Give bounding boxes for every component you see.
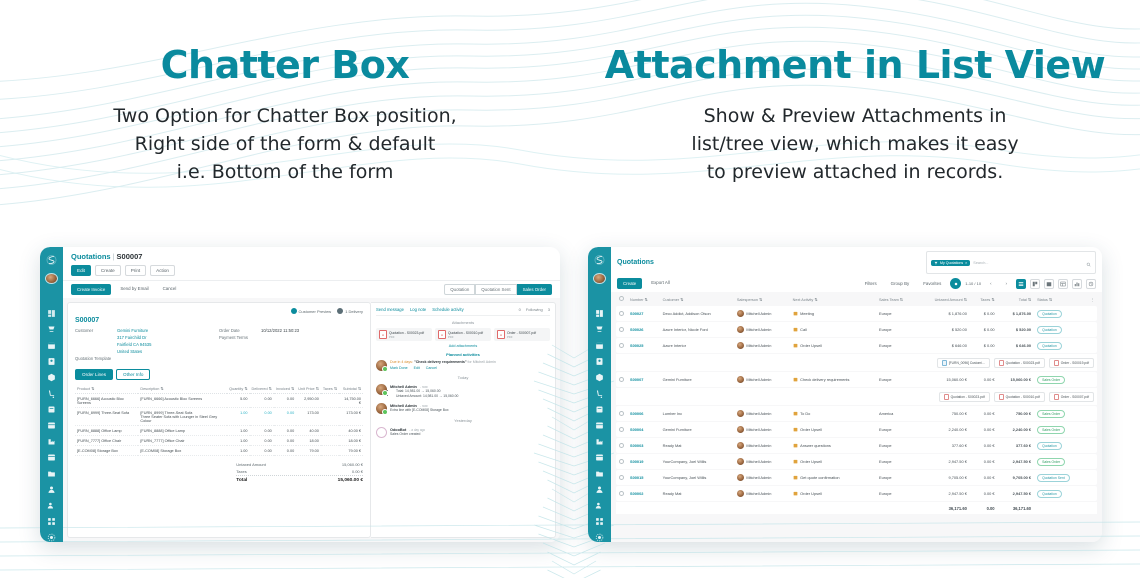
screenshot-form-view[interactable]: Quotations|S00007 Edit Create Print Acti… (40, 247, 560, 542)
cell-untaxed-amount: 377.60 € (917, 438, 970, 453)
attachment-chip[interactable]: Order - S00007.pdf (1049, 392, 1094, 402)
activity-links[interactable]: Mark Done Edit Cancel (390, 366, 550, 370)
order-lines-col-unit-price[interactable]: Unit Price ⇅ (296, 384, 321, 394)
sidebar-icon-manufacturing-right[interactable] (595, 437, 604, 446)
status-quotation-sent[interactable]: Quotation Sent (475, 284, 516, 295)
order-lines-col-delivered[interactable]: Delivered ⇅ (250, 384, 274, 394)
table-row[interactable]: S00007Gemini FurnitureMitchell AdminChec… (616, 372, 1097, 387)
order-line-cell: [FURN_8999] Three-Seat Sofa Three Seater… (138, 408, 227, 426)
activity-cell-inner[interactable]: Answer questions (793, 443, 831, 448)
total-value: 15,060.00 € (342, 462, 363, 467)
cell-spacer (1087, 306, 1097, 321)
salesperson-avatar-name: Mitchell Admin (737, 458, 772, 465)
fields-column-left: Customer Gemini Furniture 317 Fairchild … (75, 328, 219, 363)
row-select-cell[interactable] (616, 338, 627, 353)
cell-next-activity[interactable]: Order Upsell (790, 454, 876, 469)
row-select-cell[interactable] (616, 372, 627, 387)
search-facet[interactable]: My Quotations × (931, 260, 970, 266)
cell-next-activity[interactable]: Answer questions (790, 438, 876, 453)
status-quotation[interactable]: Quotation (444, 284, 475, 295)
sidebar-icon-invoicing-right[interactable] (595, 405, 604, 414)
cell-salesperson: Mitchell Admin (734, 322, 790, 337)
message-thread: TodayMitchell Admin- nowTotal: 14,981.00… (376, 375, 550, 438)
sidebar-icon-contacts[interactable] (47, 357, 56, 366)
breadcrumb[interactable]: Quotations|S00007 (71, 252, 552, 261)
sidebar-icon-manufacturing[interactable] (47, 437, 56, 446)
attachment-count: 0 (519, 307, 521, 312)
order-line-cell: 79.00 € (339, 446, 363, 456)
odoo-sidebar-left[interactable] (40, 247, 63, 542)
avatar (737, 342, 744, 349)
activity-cell-inner[interactable]: Order Upsell (793, 459, 822, 464)
sidebar-icon-website-right[interactable] (595, 453, 604, 462)
odoo-logo-icon (44, 254, 59, 266)
select-all-checkbox[interactable] (619, 296, 624, 301)
activity-cell-inner[interactable]: Check delivery requirements (793, 377, 850, 382)
row-checkbox[interactable] (619, 411, 624, 416)
status-badge: Sales Order (1037, 426, 1065, 434)
cell-number[interactable]: S00004 (627, 422, 660, 437)
thread-day-separator: Yesterday (376, 418, 550, 423)
filters-dropdown[interactable]: Filters (860, 279, 882, 288)
pager-previous-button[interactable]: ‹ (985, 279, 996, 288)
sidebar-icon-recruitment-right[interactable] (595, 501, 604, 510)
column-header-next-activity[interactable]: Next Activity ⇅ (790, 293, 876, 305)
column-header-total[interactable]: Total ⇅ (998, 293, 1035, 305)
table-row[interactable]: S00003Ready MatMitchell AdminAnswer ques… (616, 438, 1097, 453)
activity-cell-inner[interactable]: Order Upsell (793, 491, 822, 496)
attachment-chip[interactable]: [FURN_0096] Customi... (937, 358, 990, 368)
user-avatar[interactable] (45, 273, 58, 284)
cell-spacer (1087, 372, 1097, 387)
following-button[interactable]: Following (526, 307, 543, 312)
order-lines-col-taxes[interactable]: Taxes ⇅ (321, 384, 339, 394)
sidebar-nav[interactable] (47, 309, 56, 542)
order-lines-col-subtotal[interactable]: Subtotal ⇅ (339, 384, 363, 394)
cell-taxes: 0.00 € (970, 454, 998, 469)
order-lines-col-invoiced[interactable]: Invoiced ⇅ (274, 384, 296, 394)
order-lines-col-quantity[interactable]: Quantity ⇅ (227, 384, 249, 394)
activity-subject: "Check delivery requirements" (414, 360, 467, 364)
salesperson-avatar-name: Mitchell Admin (737, 410, 772, 417)
send-by-email-button[interactable]: Send by Email (115, 284, 153, 295)
attachment-list[interactable]: AQuotation - S00023.pdfPDFAQuotation - S… (376, 328, 550, 341)
row-number-link[interactable]: S00025 (630, 343, 643, 348)
order-lines-table: Product ⇅Description ⇅Quantity ⇅Delivere… (75, 384, 363, 456)
sidebar-icon-apps-right[interactable] (595, 517, 604, 526)
cell-number[interactable]: S00027 (627, 306, 660, 321)
cell-next-activity[interactable]: Call (790, 322, 876, 337)
column-header-number[interactable]: Number ⇅ (627, 293, 660, 305)
facet-remove-icon[interactable]: × (965, 261, 967, 265)
field-quotation-template-label: Quotation Template (75, 356, 111, 362)
pdf-icon (1054, 360, 1059, 366)
attachment-chip-label: Quotation - S00023.pdf (1006, 361, 1040, 365)
row-checkbox[interactable] (619, 343, 624, 348)
cell-salesperson: Mitchell Admin (734, 438, 790, 453)
attachment-chips[interactable]: Quotation - S00023.pdfQuotation - S00010… (619, 392, 1094, 402)
sidebar-icon-contacts-right[interactable] (595, 357, 604, 366)
sidebar-icon-calendar[interactable] (47, 341, 56, 350)
records-header-row: Number ⇅Customer ⇅Salesperson ⇅Next Acti… (616, 293, 1097, 305)
chatter-box[interactable]: Send message Log note Schedule activity … (371, 302, 556, 538)
form-action-buttons[interactable]: Edit Create Print Action (71, 265, 552, 276)
order-line-row[interactable]: [E-COM08] Storage Box[E-COM08] Storage B… (75, 446, 363, 456)
order-line-cell: 40.00 (296, 426, 321, 436)
customer-preview-stat-button[interactable]: Customer Preview (291, 308, 332, 314)
column-header-sales-team[interactable]: Sales Team ⇅ (876, 293, 917, 305)
activity-cell-inner[interactable]: Meeting (793, 311, 814, 316)
order-line-cell: 0.00 (250, 394, 274, 408)
row-select-cell[interactable] (616, 422, 627, 437)
cell-next-activity[interactable]: Order Upsell (790, 422, 876, 437)
activity-cell-inner[interactable]: Order Upsell (793, 427, 822, 432)
view-pivot-icon[interactable] (1058, 279, 1068, 289)
cell-number[interactable]: S00015 (627, 470, 660, 485)
cell-taxes: $ 0.00 (970, 306, 998, 321)
cell-next-activity[interactable]: Check delivery requirements (790, 372, 876, 387)
pager-next-button[interactable]: › (1001, 279, 1012, 288)
group-by-dropdown[interactable]: Group By (886, 279, 915, 288)
order-line-cell: [FURN_8888] Office Lamp (75, 426, 138, 436)
cell-untaxed-amount: 2,947.50 € (917, 454, 970, 469)
sidebar-nav-right[interactable] (595, 309, 604, 542)
row-select-cell[interactable] (616, 470, 627, 485)
total-row: Taxes0.00 € (236, 468, 363, 475)
total-value: 0.00 € (352, 469, 363, 474)
sidebar-icon-accounting[interactable] (47, 421, 56, 430)
notebook-tabs[interactable]: Order Lines Other Info (75, 369, 363, 380)
status-badge: Quotation (1037, 310, 1062, 318)
salesperson-avatar-name: Mitchell Admin (737, 310, 772, 317)
cell-status: Sales Order (1034, 406, 1087, 421)
row-checkbox[interactable] (619, 327, 624, 332)
cell-status: Quotation (1034, 322, 1087, 337)
row-select-cell[interactable] (616, 438, 627, 453)
favorites-dropdown[interactable]: Favorites (918, 279, 946, 288)
order-lines-header-row: Product ⇅Description ⇅Quantity ⇅Delivere… (75, 384, 363, 394)
cell-number[interactable]: S00025 (627, 338, 660, 353)
attachment-chip[interactable]: AQuotation - S00023.pdfPDF (376, 328, 432, 341)
column-options-icon[interactable]: ⋮ (1087, 293, 1097, 305)
sidebar-icon-employees-right[interactable] (595, 485, 604, 494)
column-header-customer[interactable]: Customer ⇅ (660, 293, 734, 305)
user-avatar-right[interactable] (593, 273, 606, 284)
list-page-title: Quotations (617, 259, 654, 266)
cell-taxes: 0.00 € (970, 372, 998, 387)
cell-customer: Ready Mat (660, 486, 734, 501)
create-record-button[interactable]: Create (617, 278, 642, 289)
cancel-button[interactable]: Cancel (158, 284, 182, 295)
cell-number[interactable]: S00026 (627, 322, 660, 337)
order-lines-col-product[interactable]: Product ⇅ (75, 384, 138, 394)
row-select-cell[interactable] (616, 454, 627, 469)
row-checkbox[interactable] (619, 443, 624, 448)
create-button[interactable]: Create (95, 265, 121, 276)
schedule-activity-button[interactable]: Schedule activity (432, 307, 463, 312)
sidebar-icon-apps[interactable] (47, 517, 56, 526)
workflow-buttons[interactable]: Create Invoice Send by Email Cancel (71, 284, 181, 295)
status-bar: Create Invoice Send by Email Cancel Quot… (63, 280, 560, 298)
attachment-chip[interactable]: Quotation - S00010.pdf (994, 392, 1045, 402)
sidebar-icon-accounting-right[interactable] (595, 421, 604, 430)
row-checkbox[interactable] (619, 475, 624, 480)
activity-assignee: for Mitchell Admin (468, 360, 496, 364)
status-sales-order[interactable]: Sales Order (517, 284, 552, 295)
cell-status: Quotation Sent (1034, 470, 1087, 485)
add-attachments-button[interactable]: Add attachments (376, 344, 550, 348)
row-number-link[interactable]: S00003 (630, 443, 643, 448)
cell-total: $ 520.00 (998, 322, 1035, 337)
chatter-toolbar[interactable]: Send message Log note Schedule activity … (376, 307, 550, 316)
order-line-cell: [FURN_8999] Three-Seat Sofa (75, 408, 138, 426)
attachment-chip[interactable]: Order - S00019.pdf (1049, 358, 1094, 368)
eye-icon (291, 308, 297, 314)
cell-number[interactable]: S00002 (627, 486, 660, 501)
search-input[interactable]: Search... (973, 261, 988, 265)
view-kanban-icon[interactable] (1030, 279, 1040, 289)
odoo-sidebar-right[interactable] (588, 247, 611, 542)
list-primary-actions[interactable]: Create Export All (617, 278, 675, 289)
sidebar-icon-settings-right[interactable] (595, 533, 604, 542)
order-line-row[interactable]: [FURN_6666] Acoustic Bloc Screens[FURN_6… (75, 394, 363, 408)
row-select-cell[interactable] (616, 306, 627, 321)
table-row[interactable]: S00025Azure InteriorMitchell AdminOrder … (616, 338, 1097, 353)
attachment-chips[interactable]: [FURN_0096] Customi...Quotation - S00023… (619, 358, 1094, 368)
status-pipeline[interactable]: Quotation Quotation Sent Sales Order (444, 284, 552, 295)
cell-spacer (1087, 422, 1097, 437)
export-all-button[interactable]: Export All (646, 278, 675, 289)
order-line-cell: 1.00 (227, 436, 249, 446)
table-row[interactable]: S00026Azure Interior, Nicole FordMitchel… (616, 322, 1097, 337)
summary-blank (627, 502, 660, 514)
table-row[interactable]: S00002Ready MatMitchell AdminOrder Upsel… (616, 486, 1097, 501)
cell-next-activity[interactable]: Order Upsell (790, 486, 876, 501)
order-line-cell: 79.00 (296, 446, 321, 456)
view-list-icon[interactable] (1016, 279, 1026, 289)
sidebar-icon-projects[interactable] (47, 469, 56, 478)
field-payment-terms-label: Payment Terms (219, 335, 261, 341)
order-line-cell (321, 436, 339, 446)
sidebar-icon-sales-right[interactable] (595, 325, 604, 334)
summary-blank (1087, 502, 1097, 514)
attachment-chip[interactable]: AOrder - S00007.pdfPDF (494, 328, 550, 341)
column-header-salesperson[interactable]: Salesperson ⇅ (734, 293, 790, 305)
avatar (737, 458, 744, 465)
cell-number[interactable]: S00007 (627, 372, 660, 387)
row-checkbox[interactable] (619, 459, 624, 464)
cell-customer: Deco Addict, Addison Olson (660, 306, 734, 321)
search-bar[interactable]: My Quotations × Search... (926, 251, 1096, 274)
row-select-cell[interactable] (616, 322, 627, 337)
cell-next-activity[interactable]: To Do (790, 406, 876, 421)
status-badge: Quotation Sent (1037, 474, 1070, 482)
sidebar-icon-recruitment[interactable] (47, 501, 56, 510)
table-row[interactable]: S00006Lumber IncMitchell AdminTo DoAmeri… (616, 406, 1097, 421)
activity-cell-inner[interactable]: Get quote confirmation (793, 475, 840, 480)
cell-sales-team: Europe (876, 438, 917, 453)
activity-cell-inner[interactable]: To Do (793, 411, 811, 416)
row-checkbox[interactable] (619, 491, 624, 496)
row-select-cell[interactable] (616, 486, 627, 501)
list-toolbar[interactable]: Create Export All Filters Group By Favor… (617, 278, 1096, 289)
cell-next-activity[interactable]: Get quote confirmation (790, 470, 876, 485)
settings-gear-icon[interactable] (950, 278, 961, 289)
cell-number[interactable]: S00019 (627, 454, 660, 469)
cancel-activity-link[interactable]: Cancel (426, 366, 437, 370)
row-select-cell[interactable] (616, 406, 627, 421)
row-number-link[interactable]: S00019 (630, 459, 643, 464)
edit-activity-link[interactable]: Edit (414, 366, 420, 370)
sidebar-icon-purchase[interactable] (47, 389, 56, 398)
sidebar-icon-dashboard[interactable] (47, 309, 56, 318)
attachment-chip[interactable]: Quotation - S00023.pdf (939, 392, 990, 402)
chatter-actions[interactable]: Send message Log note Schedule activity (376, 307, 464, 312)
field-customer-label: Customer (75, 328, 117, 334)
cell-salesperson: Mitchell Admin (734, 422, 790, 437)
message-line: Untaxed Amount: 14,981.00 → 15,060.00 (396, 394, 458, 399)
row-number-link[interactable]: S00015 (630, 475, 643, 480)
row-number-link[interactable]: S00007 (630, 377, 643, 382)
cell-next-activity[interactable]: Meeting (790, 306, 876, 321)
cell-status: Quotation (1034, 486, 1087, 501)
row-number-link[interactable]: S00027 (630, 311, 643, 316)
pdf-icon (999, 360, 1004, 366)
delivery-stat-button[interactable]: 1 Delivery (337, 308, 363, 314)
view-activity-icon[interactable] (1086, 279, 1096, 289)
cell-untaxed-amount: $ 646.00 (917, 338, 970, 353)
sidebar-icon-inventory-right[interactable] (595, 373, 604, 382)
tab-other-info[interactable]: Other Info (116, 369, 150, 380)
table-row[interactable]: S00027Deco Addict, Addison OlsonMitchell… (616, 306, 1097, 321)
table-row[interactable]: S00019YourCompany, Joel WillisMitchell A… (616, 454, 1097, 469)
cell-customer: YourCompany, Joel Willis (660, 470, 734, 485)
list-view-controls[interactable]: Filters Group By Favorites 1-10 / 10 ‹ › (860, 278, 1096, 289)
pdf-icon (999, 394, 1004, 400)
cell-next-activity[interactable]: Order Upsell (790, 338, 876, 353)
edit-button[interactable]: Edit (71, 265, 91, 276)
order-line-row[interactable]: [FURN_8999] Three-Seat Sofa[FURN_8999] T… (75, 408, 363, 426)
row-checkbox[interactable] (619, 427, 624, 432)
order-line-cell: 1.00 (227, 446, 249, 456)
cell-untaxed-amount: $ 1,876.00 (917, 306, 970, 321)
cell-number[interactable]: S00003 (627, 438, 660, 453)
order-lines-col-description[interactable]: Description ⇅ (138, 384, 227, 394)
order-line-cell (321, 446, 339, 456)
breadcrumb-separator: | (113, 252, 115, 261)
table-row[interactable]: S00004Gemini FurnitureMitchell AdminOrde… (616, 422, 1097, 437)
sidebar-icon-inventory[interactable] (47, 373, 56, 382)
cell-taxes: $ 0.00 (970, 338, 998, 353)
cell-sales-team: Europe (876, 338, 917, 353)
view-calendar-icon[interactable] (1044, 279, 1054, 289)
summary-blank (790, 502, 876, 514)
sidebar-icon-website[interactable] (47, 453, 56, 462)
cell-total: $ 1,876.00 (998, 306, 1035, 321)
attachment-chip[interactable]: AQuotation - S00010.pdfPDF (435, 328, 491, 341)
cell-number[interactable]: S00006 (627, 406, 660, 421)
order-line-cell: 0.00 (274, 394, 296, 408)
salesperson-avatar-name: Mitchell Admin (737, 442, 772, 449)
row-checkbox[interactable] (619, 377, 624, 382)
sidebar-icon-purchase-right[interactable] (595, 389, 604, 398)
tab-order-lines[interactable]: Order Lines (75, 369, 113, 380)
create-invoice-button[interactable]: Create Invoice (71, 284, 111, 295)
sidebar-icon-projects-right[interactable] (595, 469, 604, 478)
row-number-link[interactable]: S00004 (630, 427, 643, 432)
column-header-taxes[interactable]: Taxes ⇅ (970, 293, 998, 305)
mark-done-link[interactable]: Mark Done (390, 366, 408, 370)
headings-row: Chatter Box Two Option for Chatter Box p… (0, 42, 1140, 186)
order-line-cell: [FURN_7777] Office Chair (138, 436, 227, 446)
message-avatar (376, 427, 387, 438)
print-button[interactable]: Print (125, 265, 146, 276)
attachment-chip[interactable]: Quotation - S00023.pdf (994, 358, 1045, 368)
view-graph-icon[interactable] (1072, 279, 1082, 289)
row-number-link[interactable]: S00002 (630, 491, 643, 496)
thread-day-separator: Today (376, 375, 550, 380)
field-order-date-label: Order Date (219, 328, 261, 334)
attachment-preview-row[interactable]: Quotation - S00023.pdfQuotation - S00010… (616, 388, 1097, 405)
field-customer-value[interactable]: Gemini Furniture (117, 328, 148, 334)
list-records-container[interactable]: Number ⇅Customer ⇅Salesperson ⇅Next Acti… (611, 292, 1102, 542)
sidebar-icon-employees[interactable] (47, 485, 56, 494)
activity-cell-inner[interactable]: Call (793, 327, 807, 332)
stat-buttons[interactable]: Customer Preview 1 Delivery (75, 308, 363, 314)
row-checkbox[interactable] (619, 311, 624, 316)
form-header: Quotations|S00007 Edit Create Print Acti… (63, 247, 560, 280)
sidebar-icon-calendar-right[interactable] (595, 341, 604, 350)
order-line-cell: 2,950.00 (296, 394, 321, 408)
avatar (737, 474, 744, 481)
breadcrumb-record: S00007 (117, 252, 143, 261)
form-fields: Customer Gemini Furniture 317 Fairchild … (75, 328, 363, 363)
form-view-body: Quotations|S00007 Edit Create Print Acti… (63, 247, 560, 542)
calendar-icon (793, 311, 798, 316)
breadcrumb-app[interactable]: Quotations (71, 252, 111, 261)
sidebar-icon-sales[interactable] (47, 325, 56, 334)
followers-area[interactable]: 0 Following 3 (519, 307, 550, 312)
column-header-status[interactable]: Status ⇅ (1034, 293, 1087, 305)
select-column-header[interactable] (616, 293, 627, 305)
activity-cell-inner[interactable]: Order Upsell (793, 343, 822, 348)
send-message-button[interactable]: Send message (376, 307, 404, 312)
log-note-button[interactable]: Log note (410, 307, 426, 312)
sidebar-icon-settings[interactable] (47, 533, 56, 542)
row-number-link[interactable]: S00006 (630, 411, 643, 416)
chart-icon (793, 459, 798, 464)
record-title: S00007 (75, 317, 363, 324)
search-icon[interactable] (1086, 254, 1091, 272)
cell-status: Quotation (1034, 306, 1087, 321)
screenshot-list-view[interactable]: Quotations My Quotations × Search... Cre… (588, 247, 1102, 542)
planned-activities-label: Planned activities (376, 352, 550, 357)
attachment-preview-row[interactable]: [FURN_0096] Customi...Quotation - S00023… (616, 354, 1097, 371)
action-button[interactable]: Action (150, 265, 175, 276)
column-header-untaxed-amount[interactable]: Untaxed Amount ⇅ (917, 293, 970, 305)
order-line-cell: 5.00 (227, 394, 249, 408)
message-line: Sales Order created (390, 432, 425, 437)
table-row[interactable]: S00015YourCompany, Joel WillisMitchell A… (616, 470, 1097, 485)
sidebar-icon-invoicing[interactable] (47, 405, 56, 414)
search-facet-label: My Quotations (940, 261, 963, 265)
salesperson-avatar-name: Mitchell Admin (737, 342, 772, 349)
order-line-cell: 0.00 (250, 436, 274, 446)
order-line-row[interactable]: [FURN_8888] Office Lamp[FURN_8888] Offic… (75, 426, 363, 436)
order-line-row[interactable]: [FURN_7777] Office Chair[FURN_7777] Offi… (75, 436, 363, 446)
sidebar-icon-dashboard-right[interactable] (595, 309, 604, 318)
row-number-link[interactable]: S00026 (630, 327, 643, 332)
